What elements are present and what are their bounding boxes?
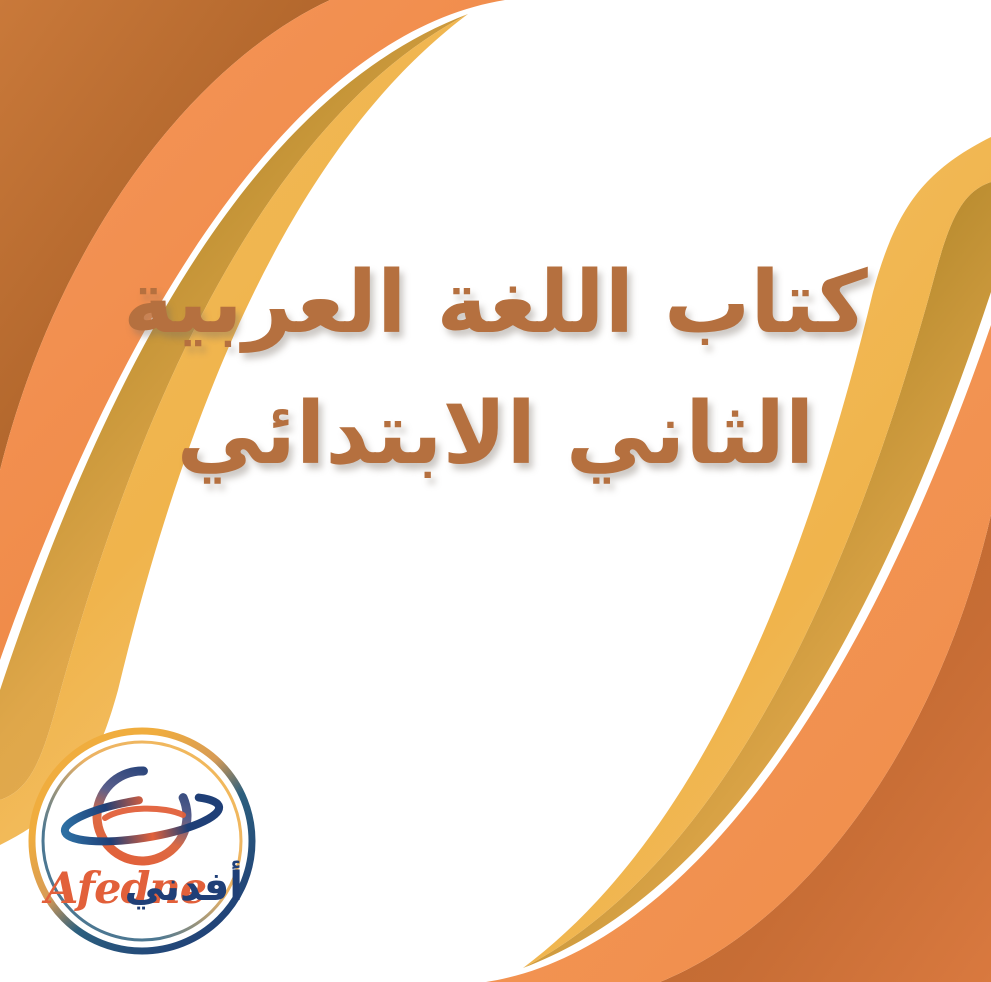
logo-wordmark: Afedne أفدني: [23, 864, 261, 916]
logo-arabic-text: أفدني: [125, 866, 244, 908]
afedne-logo: Afedne أفدني: [23, 722, 261, 960]
book-cover: كتاب اللغة العربية الثاني الابتدائي: [0, 0, 991, 982]
